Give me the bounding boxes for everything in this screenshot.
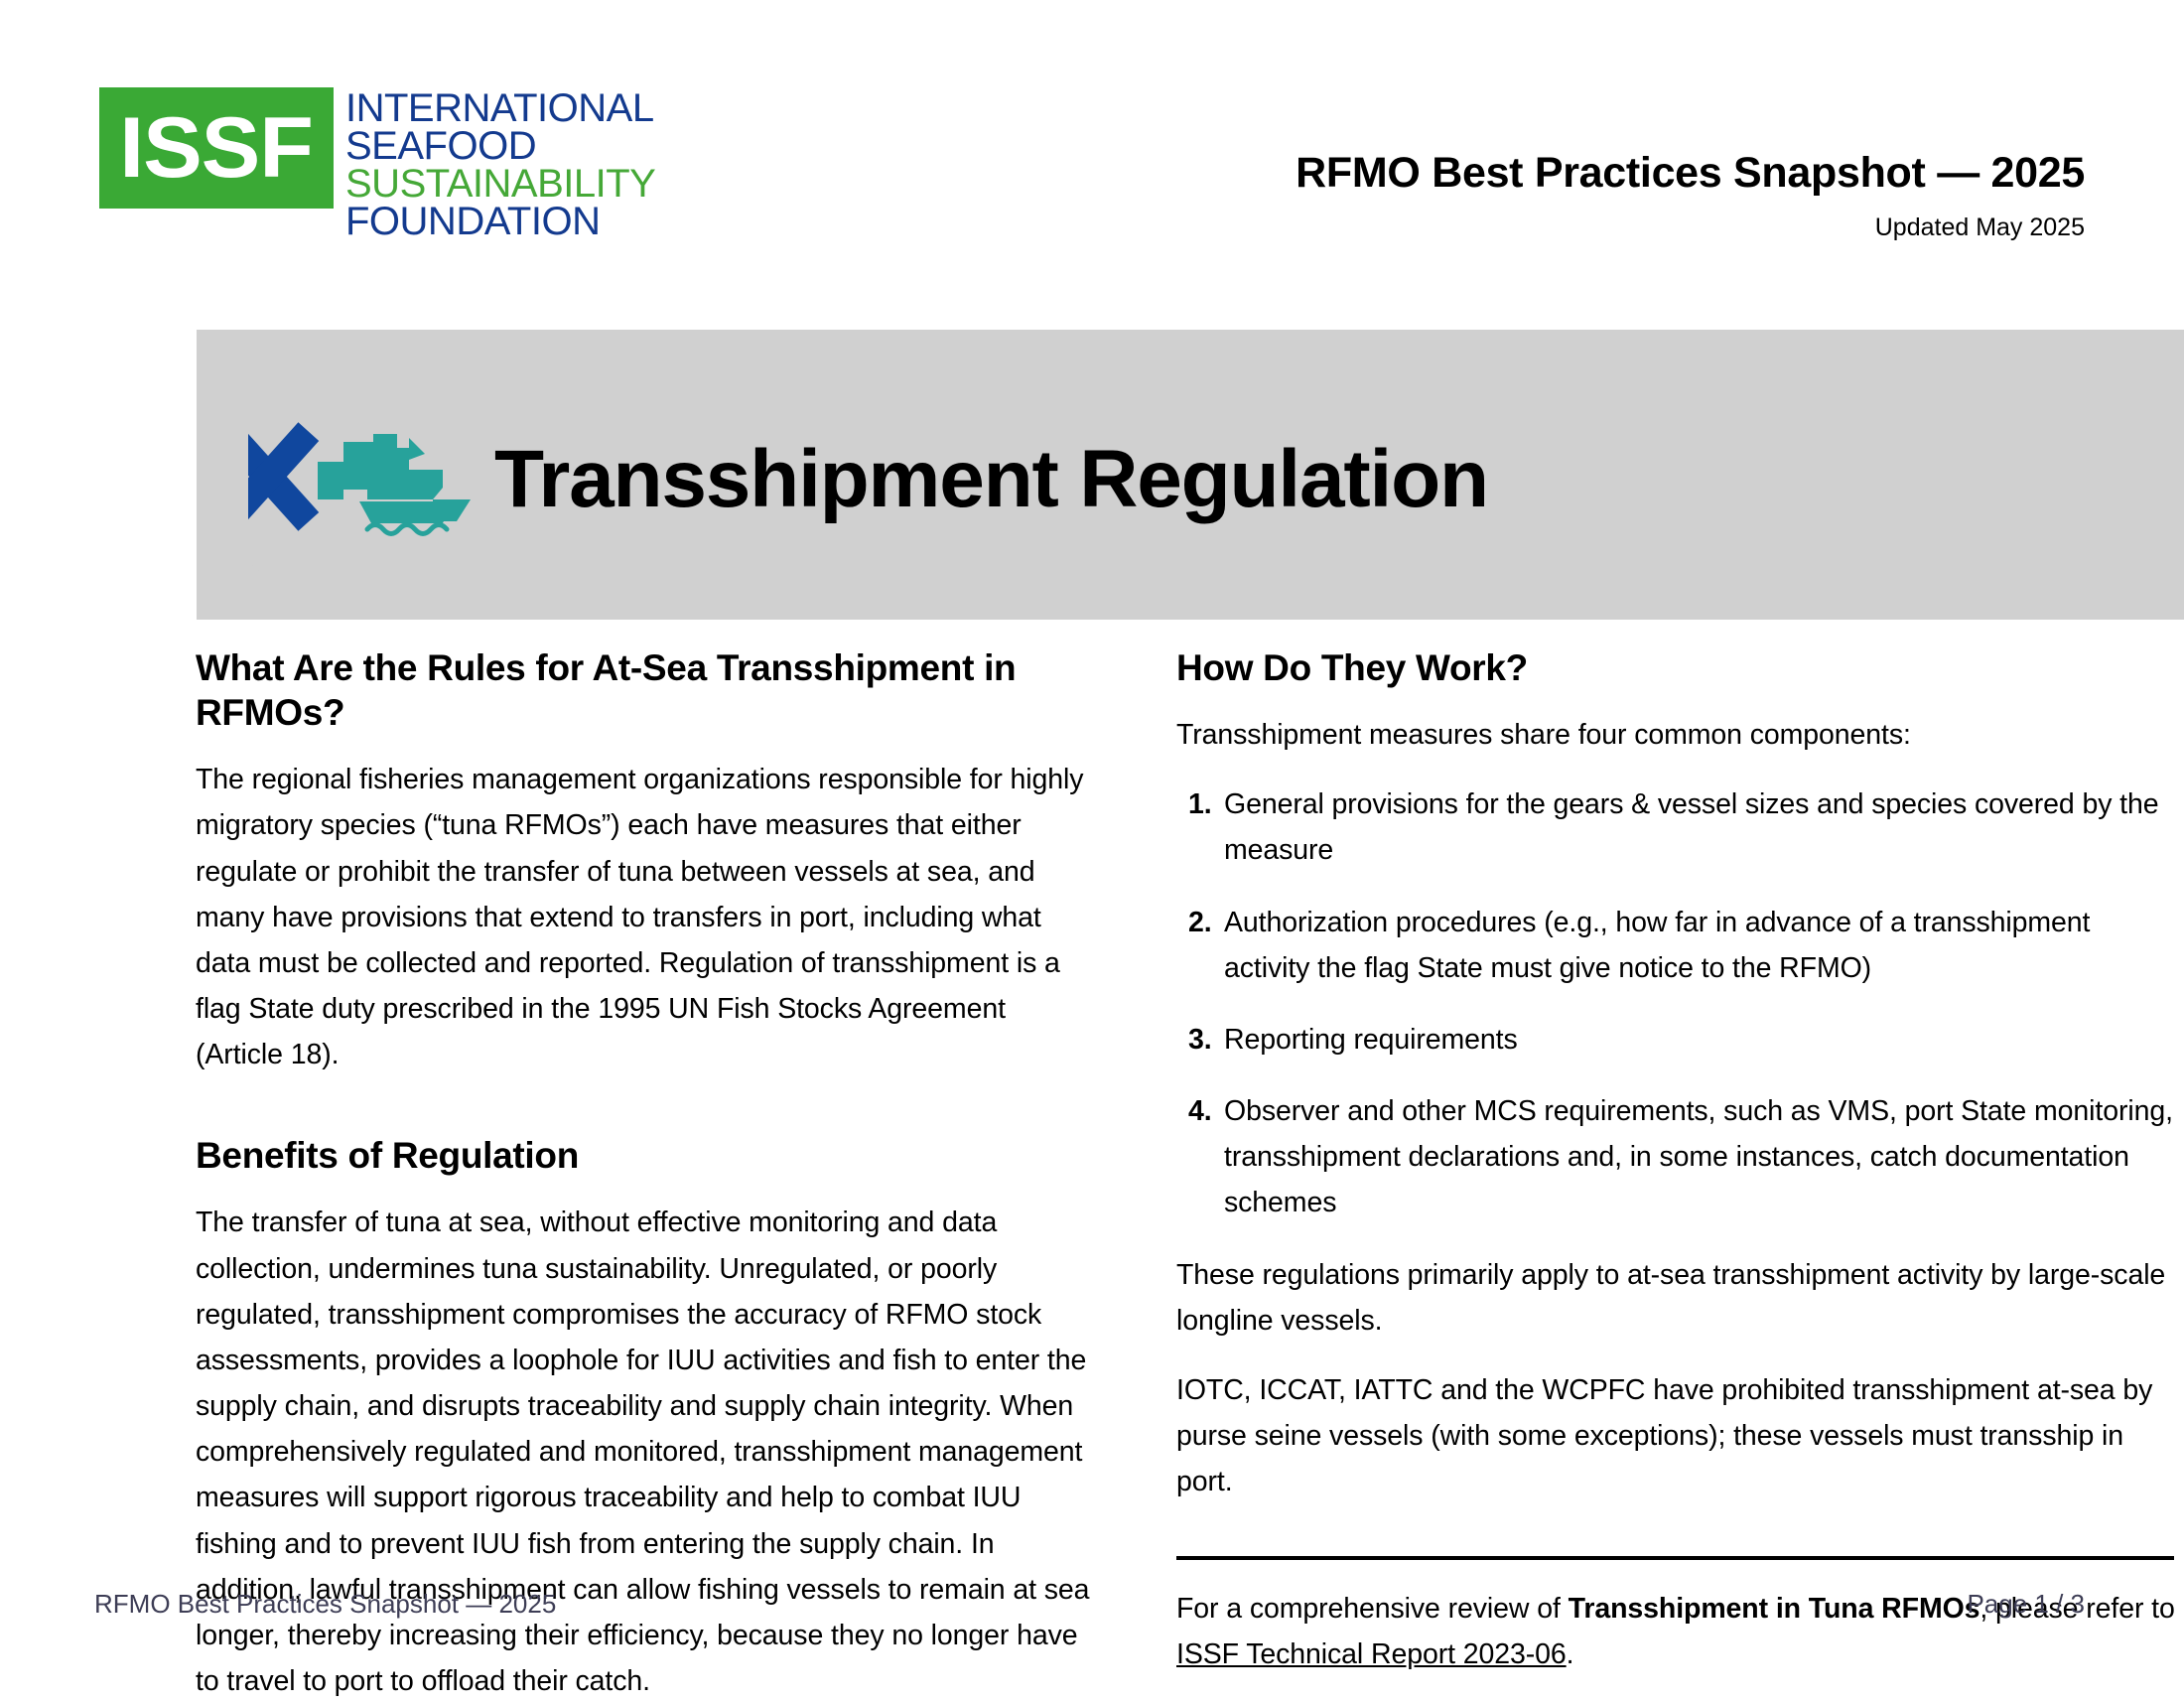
paragraph-purse-seine-prohibition: IOTC, ICCAT, IATTC and the WCPFC have pr… bbox=[1176, 1367, 2179, 1504]
logo-word-line-4: FOUNDATION bbox=[345, 203, 655, 240]
document-updated-date: Updated May 2025 bbox=[1296, 213, 2085, 242]
logo-word-line-3: SUSTAINABILITY bbox=[345, 165, 655, 203]
list-item-number: 4. bbox=[1176, 1088, 1224, 1225]
banner-title: Transshipment Regulation bbox=[494, 433, 1488, 526]
page-footer: RFMO Best Practices Snapshot — 2025 Page… bbox=[0, 1559, 2184, 1688]
list-item-number: 3. bbox=[1176, 1017, 1224, 1063]
logo-word-line-2: SEAFOOD bbox=[345, 127, 655, 165]
paragraph-rules-body: The regional fisheries management organi… bbox=[196, 757, 1099, 1077]
list-item: 4. Observer and other MCS requirements, … bbox=[1176, 1088, 2179, 1225]
footer-page-number: Page 1 / 3 bbox=[1967, 1589, 2085, 1620]
list-item-text: Authorization procedures (e.g., how far … bbox=[1224, 900, 2179, 991]
paragraph-longline-vessels: These regulations primarily apply to at-… bbox=[1176, 1252, 2179, 1344]
vessel-shape bbox=[318, 434, 471, 523]
banner-content: Transshipment Regulation bbox=[248, 330, 1488, 620]
list-item-number: 2. bbox=[1176, 900, 1224, 991]
header-title-block: RFMO Best Practices Snapshot — 2025 Upda… bbox=[1296, 149, 2085, 242]
list-item: 3. Reporting requirements bbox=[1176, 1017, 2179, 1063]
list-item-number: 1. bbox=[1176, 781, 1224, 873]
no-transshipment-icon bbox=[248, 404, 477, 553]
components-list: 1. General provisions for the gears & ve… bbox=[1176, 781, 2179, 1225]
page-header: ISSF INTERNATIONAL SEAFOOD SUSTAINABILIT… bbox=[0, 0, 2184, 298]
issf-logo-mark-text: ISSF bbox=[120, 105, 314, 191]
footer-document-name: RFMO Best Practices Snapshot — 2025 bbox=[94, 1589, 556, 1620]
wave-lines bbox=[367, 525, 447, 534]
list-item: 2. Authorization procedures (e.g., how f… bbox=[1176, 900, 2179, 991]
list-item-text: Observer and other MCS requirements, suc… bbox=[1224, 1088, 2179, 1225]
list-item: 1. General provisions for the gears & ve… bbox=[1176, 781, 2179, 873]
list-item-text: General provisions for the gears & vesse… bbox=[1224, 781, 2179, 873]
issf-logo-wordmark: INTERNATIONAL SEAFOOD SUSTAINABILITY FOU… bbox=[345, 87, 655, 240]
list-item-text: Reporting requirements bbox=[1224, 1017, 2179, 1063]
heading-rules-for-at-sea-transshipment: What Are the Rules for At-Sea Transshipm… bbox=[196, 645, 1099, 735]
document-title: RFMO Best Practices Snapshot — 2025 bbox=[1296, 149, 2085, 198]
x-mark bbox=[248, 422, 319, 530]
right-column: How Do They Work? Transshipment measures… bbox=[1176, 645, 2179, 1678]
issf-logo: ISSF INTERNATIONAL SEAFOOD SUSTAINABILIT… bbox=[99, 87, 655, 240]
section-banner: Transshipment Regulation bbox=[0, 330, 2184, 620]
heading-how-do-they-work: How Do They Work? bbox=[1176, 645, 2179, 690]
issf-logo-mark: ISSF bbox=[99, 87, 334, 209]
left-column: What Are the Rules for At-Sea Transshipm… bbox=[196, 645, 1099, 1704]
paragraph-components-intro: Transshipment measures share four common… bbox=[1176, 712, 2179, 758]
logo-word-line-1: INTERNATIONAL bbox=[345, 89, 655, 127]
heading-benefits-of-regulation: Benefits of Regulation bbox=[196, 1133, 1099, 1178]
